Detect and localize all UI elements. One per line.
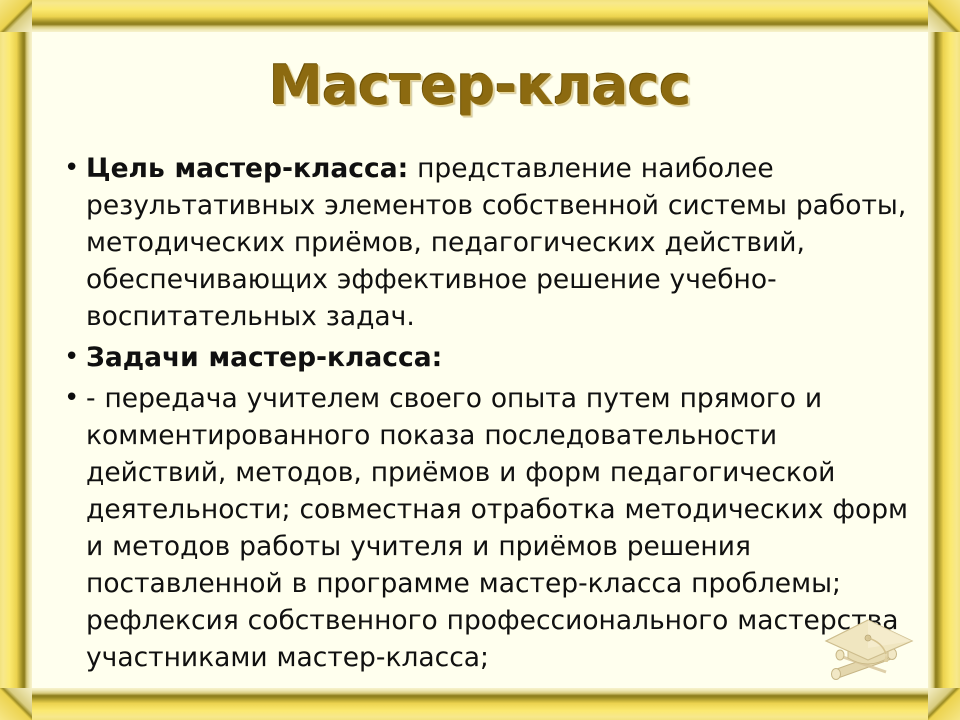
frame-border-left <box>0 0 32 720</box>
frame-corner-bottom-left <box>0 688 32 720</box>
list-item-text: - передача учителем своего опыта путем п… <box>86 380 924 676</box>
bullet-list: • Цель мастер-класса: представление наиб… <box>44 150 924 680</box>
bullet-dot-icon: • <box>44 339 86 376</box>
frame-corner-bottom-right <box>928 688 960 720</box>
bullet-dot-icon: • <box>44 380 86 417</box>
frame-border-right <box>928 0 960 720</box>
frame-corner-top-left <box>0 0 32 32</box>
list-item: • Задачи мастер-класса: <box>44 339 924 376</box>
list-item-text: Задачи мастер-класса: <box>86 339 924 376</box>
list-item: • - передача учителем своего опыта путем… <box>44 380 924 676</box>
frame-border-bottom <box>0 688 960 720</box>
list-item-body: - передача учителем своего опыта путем п… <box>86 383 908 673</box>
bullet-dot-icon: • <box>44 150 86 187</box>
frame-border-top <box>0 0 960 32</box>
slide-title: Мастер-класс <box>32 54 928 117</box>
list-item-lead: Задачи мастер-класса: <box>86 342 442 373</box>
list-item: • Цель мастер-класса: представление наиб… <box>44 150 924 335</box>
frame-corner-top-right <box>928 0 960 32</box>
slide: Мастер-класс • Цель мастер-класса: предс… <box>0 0 960 720</box>
slide-content-area: Мастер-класс • Цель мастер-класса: предс… <box>32 32 928 688</box>
list-item-lead: Цель мастер-класса: <box>86 153 408 184</box>
list-item-text: Цель мастер-класса: представление наибол… <box>86 150 924 335</box>
